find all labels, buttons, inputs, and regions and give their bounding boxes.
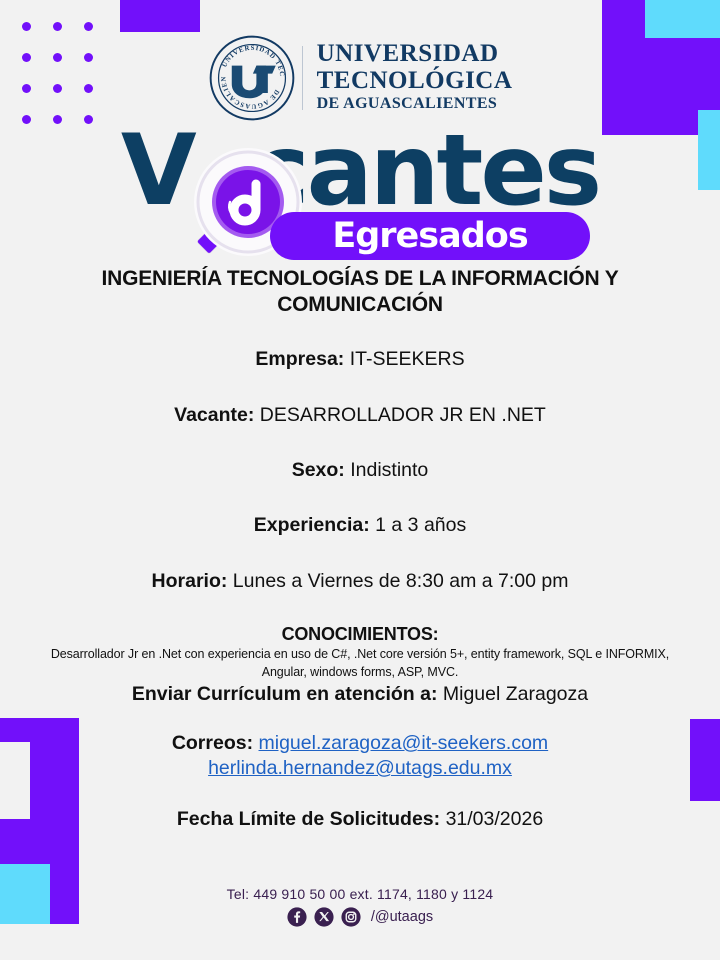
email-link-secondary[interactable]: herlinda.hernandez@utags.edu.mx <box>208 757 512 779</box>
field-fecha-value: 31/03/2026 <box>446 808 544 830</box>
field-horario: Horario: Lunes a Viernes de 8:30 am a 7:… <box>0 569 720 594</box>
decor-top-right-cyan-block <box>645 0 720 38</box>
conocimientos-text: Desarrollador Jr en .Net con experiencia… <box>0 645 720 681</box>
decor-dot <box>53 22 62 31</box>
email-link-primary[interactable]: miguel.zaragoza@it-seekers.com <box>259 732 549 754</box>
field-experiencia: Experiencia: 1 a 3 años <box>0 513 720 538</box>
decor-dot <box>22 22 31 31</box>
social-links: /@utaags <box>0 907 720 927</box>
hero-title-after: cantes <box>252 114 600 228</box>
footer-phone: Tel: 449 910 50 00 ext. 1174, 1180 y 112… <box>0 886 720 902</box>
field-vacante-label: Vacante: <box>174 404 254 426</box>
field-correos-label: Correos: <box>172 732 253 754</box>
program-title: INGENIERÍA TECNOLOGÍAS DE LA INFORMACIÓN… <box>0 266 720 317</box>
poster-body: INGENIERÍA TECNOLOGÍAS DE LA INFORMACIÓN… <box>0 266 720 831</box>
field-sexo: Sexo: Indistinto <box>0 458 720 483</box>
field-correos: Correos: miguel.zaragoza@it-seekers.com <box>0 732 720 755</box>
field-correos-second-row: herlinda.hernandez@utags.edu.mx <box>0 755 720 781</box>
hero-title-hidden-a: a <box>188 114 251 228</box>
field-empresa-value: IT-SEEKERS <box>350 348 465 370</box>
field-horario-value: Lunes a Viernes de 8:30 am a 7:00 pm <box>233 570 569 592</box>
decor-top-left-rectangle <box>120 0 200 32</box>
field-vacante: Vacante: DESARROLLADOR JR EN .NET <box>0 403 720 428</box>
logo-line-1: UNIVERSIDAD <box>317 41 513 68</box>
logo-line-2: TECNOLÓGICA <box>317 68 513 95</box>
poster-footer: Tel: 449 910 50 00 ext. 1174, 1180 y 112… <box>0 886 720 927</box>
field-fecha-label: Fecha Límite de Solicitudes: <box>177 808 440 830</box>
field-sexo-label: Sexo: <box>292 459 345 481</box>
field-experiencia-value: 1 a 3 años <box>375 514 466 536</box>
field-enviar-label: Enviar Currículum en atención a: <box>132 683 438 705</box>
facebook-icon[interactable] <box>287 907 307 927</box>
field-fecha-limite: Fecha Límite de Solicitudes: 31/03/2026 <box>0 808 720 831</box>
decor-dot <box>84 22 93 31</box>
field-vacante-value: DESARROLLADOR JR EN .NET <box>260 404 546 426</box>
vacancy-poster: UNIVERSIDAD TECNOLÓGICA DE AGUASCALIENTE… <box>0 0 720 960</box>
field-enviar: Enviar Currículum en atención a: Miguel … <box>0 683 720 706</box>
field-enviar-value: Miguel Zaragoza <box>443 683 588 705</box>
university-logo: UNIVERSIDAD TECNOLÓGICA DE AGUASCALIENTE… <box>0 34 720 122</box>
conocimientos-heading: CONOCIMIENTOS: <box>0 624 720 645</box>
field-horario-label: Horario: <box>152 570 228 592</box>
egresados-badge: Egresados <box>270 212 590 260</box>
social-handle: /@utaags <box>371 909 433 925</box>
field-empresa-label: Empresa: <box>255 348 344 370</box>
x-twitter-icon[interactable] <box>314 907 334 927</box>
hero-title-text: Vacantes <box>0 122 720 220</box>
ut-seal-icon: UNIVERSIDAD TECNOLÓGICA DE AGUASCALIENTE… <box>208 34 296 122</box>
field-sexo-value: Indistinto <box>350 459 428 481</box>
field-empresa: Empresa: IT-SEEKERS <box>0 347 720 372</box>
logo-divider <box>302 46 303 110</box>
field-experiencia-label: Experiencia: <box>254 514 370 536</box>
logo-line-3: DE AGUASCALIENTES <box>317 94 513 115</box>
hero-title-before: V <box>121 114 189 228</box>
egresados-badge-label: Egresados <box>332 216 527 256</box>
instagram-icon[interactable] <box>341 907 361 927</box>
